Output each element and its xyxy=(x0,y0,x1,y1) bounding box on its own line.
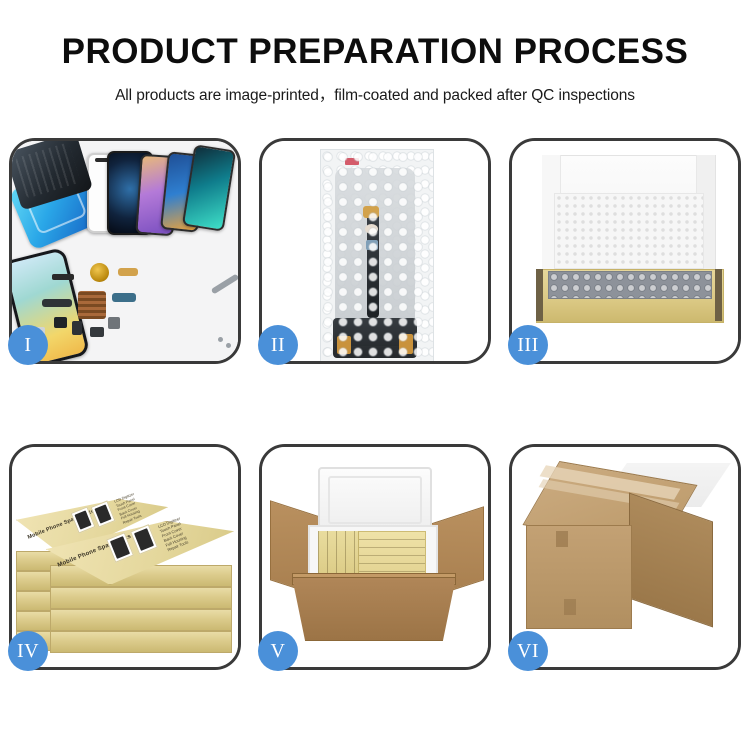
box-corner-right xyxy=(715,269,722,321)
page-subtitle: All products are image-printed，film-coat… xyxy=(0,83,750,105)
carton-body xyxy=(292,577,456,641)
step-5-image xyxy=(262,447,488,667)
step-6-image xyxy=(512,447,738,667)
bubble-wrap-bag xyxy=(320,149,434,361)
process-step-5[interactable]: V xyxy=(259,444,491,670)
step-4-image: Mobile Phone Spare Parts LCD Digitizer T… xyxy=(12,447,238,667)
bubble-texture-overlay xyxy=(321,150,433,361)
screw-part-1 xyxy=(218,337,223,342)
carton-front-face xyxy=(526,525,632,629)
carton-side-face xyxy=(629,493,713,628)
small-component-3 xyxy=(108,317,120,329)
process-step-1[interactable]: I xyxy=(9,138,241,364)
step-badge-2: II xyxy=(258,325,298,365)
stacked-box-fr-4 xyxy=(50,631,232,653)
carton-seam-upper xyxy=(556,531,568,547)
box-corner-left xyxy=(536,269,543,321)
carton-seam-lower xyxy=(564,599,576,615)
white-foam-sheet xyxy=(554,193,704,269)
step-badge-5: V xyxy=(258,631,298,671)
page-header: PRODUCT PREPARATION PROCESS All products… xyxy=(0,0,750,105)
flex-cable-part-1 xyxy=(118,268,138,276)
step-badge-6: VI xyxy=(508,631,548,671)
connector-grid-part xyxy=(78,291,106,319)
flex-cable-part-2 xyxy=(112,293,136,302)
page-title: PRODUCT PREPARATION PROCESS xyxy=(0,34,750,71)
step-1-image xyxy=(12,141,238,361)
process-step-3[interactable]: III xyxy=(509,138,741,364)
screw-part-2 xyxy=(226,343,231,348)
step-badge-3: III xyxy=(508,325,548,365)
step-badge-4: IV xyxy=(8,631,48,671)
small-component-1 xyxy=(54,317,67,328)
stacked-box-fr-3 xyxy=(50,609,232,631)
speaker-coil-part xyxy=(90,263,109,282)
process-step-2[interactable]: II xyxy=(259,138,491,364)
earpiece-part xyxy=(52,274,74,280)
packed-retail-boxes-left xyxy=(318,531,359,579)
bubble-wrapped-contents xyxy=(548,271,712,299)
process-step-grid: I II xyxy=(0,138,750,670)
step-badge-1: I xyxy=(8,325,48,365)
small-component-4 xyxy=(90,327,104,337)
small-component-2 xyxy=(72,321,82,335)
process-step-6[interactable]: VI xyxy=(509,444,741,670)
retail-box-stack: Mobile Phone Spare Parts LCD Digitizer T… xyxy=(12,447,238,667)
process-step-4[interactable]: Mobile Phone Spare Parts LCD Digitizer T… xyxy=(9,444,241,670)
step-2-image xyxy=(262,141,488,361)
stacked-box-fr-2 xyxy=(50,587,232,609)
styrofoam-lid xyxy=(318,467,432,533)
step-3-image xyxy=(512,141,738,361)
ribbon-cable-part xyxy=(42,299,72,307)
